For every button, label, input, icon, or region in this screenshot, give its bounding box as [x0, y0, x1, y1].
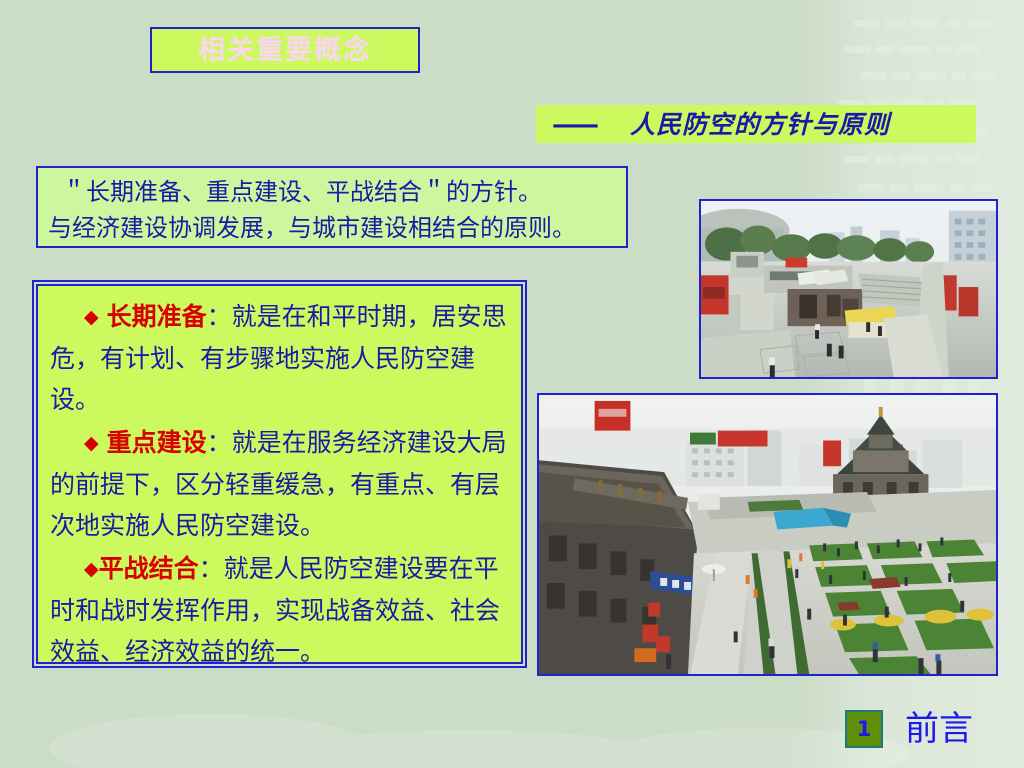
definition-term: 重点建设	[107, 428, 207, 457]
policy-line-1: ＂长期准备、重点建设、平战结合＂的方针。	[48, 174, 618, 210]
footer-section-label: 前言	[905, 712, 973, 746]
photo-xian-bell-tower-square	[537, 393, 998, 676]
slide-heading-box: 相关重要概念	[150, 27, 420, 73]
slide-number: 1	[857, 719, 872, 740]
subtitle-dash: ——	[552, 112, 596, 137]
definition-term: 平战结合	[99, 554, 199, 583]
definition-colon: ：	[207, 428, 232, 457]
definition-item: ◆ 长期准备：就是在和平时期，居安思危，有计划、有步骤地实施人民防空建设。	[50, 296, 511, 420]
subtitle-label: 人民防空的方针与原则	[630, 112, 890, 137]
definition-item: ◆ 重点建设：就是在服务经济建设大局的前提下，区分轻重缓急，有重点、有层次地实施…	[50, 422, 511, 546]
policy-line-2: 与经济建设协调发展，与城市建设相结合的原则。	[48, 210, 618, 246]
page-title: 相关重要概念	[198, 37, 372, 64]
slide-footer: 1 前言	[845, 710, 973, 748]
diamond-bullet-icon: ◆	[84, 432, 99, 454]
diamond-bullet-icon: ◆	[84, 558, 99, 580]
definitions-box: ◆ 长期准备：就是在和平时期，居安思危，有计划、有步骤地实施人民防空建设。 ◆ …	[36, 284, 523, 664]
policy-statement-box: ＂长期准备、重点建设、平战结合＂的方针。 与经济建设协调发展，与城市建设相结合的…	[36, 166, 628, 248]
definition-term: 长期准备	[107, 302, 207, 331]
slide-subtitle-band: —— 人民防空的方针与原则	[536, 105, 976, 143]
photo-underground-plaza-entrance	[699, 199, 998, 379]
definition-colon: ：	[207, 302, 232, 331]
slide-number-badge: 1	[845, 710, 883, 748]
definition-colon: ：	[199, 554, 224, 583]
definition-item: ◆平战结合：就是人民防空建设要在平时和战时发挥作用，实现战备效益、社会效益、经济…	[50, 548, 511, 672]
diamond-bullet-icon: ◆	[84, 306, 99, 328]
